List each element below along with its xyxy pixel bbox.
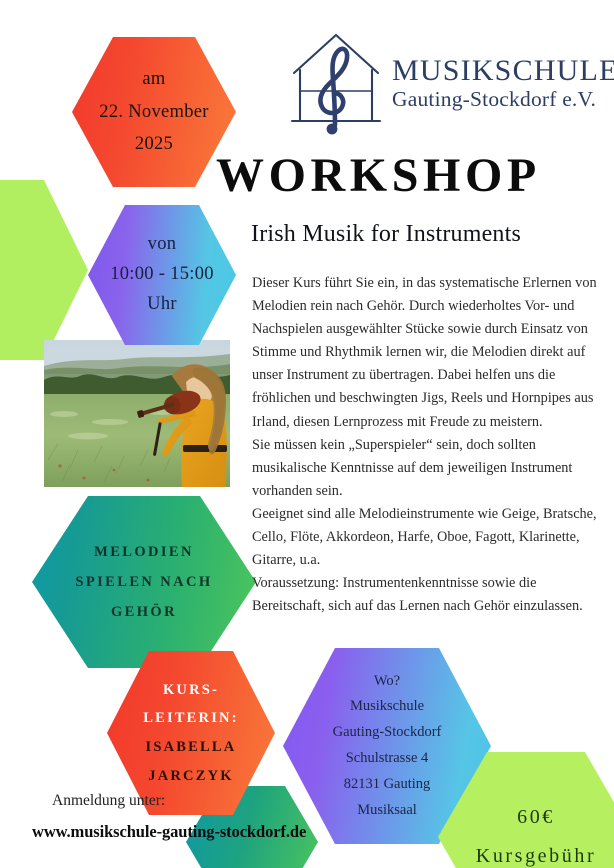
- method-line-2: SPIELEN NACH: [32, 567, 256, 597]
- fee-label: Kursgebühr: [438, 837, 614, 868]
- workshop-flyer: am 22. November 2025 von 10:00 - 15:00 U…: [0, 0, 614, 868]
- venue-line-5: 82131 Gauting: [283, 772, 491, 798]
- teacher-line-3: ISABELLA: [107, 733, 275, 762]
- venue-line-1: Wo?: [283, 669, 491, 695]
- date-badge: am 22. November 2025: [72, 37, 236, 187]
- decorative-hexagon-left: [0, 180, 88, 360]
- logo-title: MUSIKSCHULE: [392, 55, 614, 87]
- registration-label: Anmeldung unter:: [52, 792, 165, 810]
- logo-text: MUSIKSCHULE Gauting-Stockdorf e.V.: [392, 55, 614, 113]
- fee-amount: 60€: [438, 798, 614, 837]
- registration-url[interactable]: www.musikschule-gauting-stockdorf.de: [32, 822, 306, 842]
- body-paragraph-2: Sie müssen kein „Superspieler“ sein, doc…: [252, 434, 604, 503]
- date-line-1: am: [72, 63, 236, 95]
- time-line-1: von: [88, 230, 236, 260]
- time-line-2: 10:00 - 15:00: [88, 260, 236, 290]
- date-line-2: 22. November: [72, 96, 236, 128]
- method-badge: MELODIEN SPIELEN NACH GEHÖR: [32, 496, 256, 668]
- house-treble-clef-icon: [288, 29, 384, 139]
- method-line-1: MELODIEN: [32, 537, 256, 567]
- body-paragraph-4: Voraussetzung: Instrumentenkenntnisse so…: [252, 572, 604, 618]
- date-line-3: 2025: [72, 128, 236, 160]
- body-copy: Dieser Kurs führt Sie ein, in das system…: [252, 272, 604, 618]
- method-line-3: GEHÖR: [32, 597, 256, 627]
- body-paragraph-3: Geeignet sind alle Melodieinstrumente wi…: [252, 503, 604, 572]
- venue-line-4: Schulstrasse 4: [283, 746, 491, 772]
- page-subtitle: Irish Musik for Instruments: [251, 221, 611, 248]
- venue-line-3: Gauting-Stockdorf: [283, 720, 491, 746]
- logo-subtitle: Gauting-Stockdorf e.V.: [392, 86, 614, 113]
- page-title: WORKSHOP: [216, 148, 596, 203]
- venue-line-2: Musikschule: [283, 694, 491, 720]
- violinist-photo: [44, 340, 230, 487]
- time-line-3: Uhr: [88, 290, 236, 320]
- teacher-line-2: LEITERIN:: [107, 704, 275, 733]
- teacher-line-1: KURS-: [107, 676, 275, 705]
- musikschule-logo: MUSIKSCHULE Gauting-Stockdorf e.V.: [288, 26, 610, 142]
- body-paragraph-1: Dieser Kurs führt Sie ein, in das system…: [252, 272, 604, 434]
- time-badge: von 10:00 - 15:00 Uhr: [88, 205, 236, 345]
